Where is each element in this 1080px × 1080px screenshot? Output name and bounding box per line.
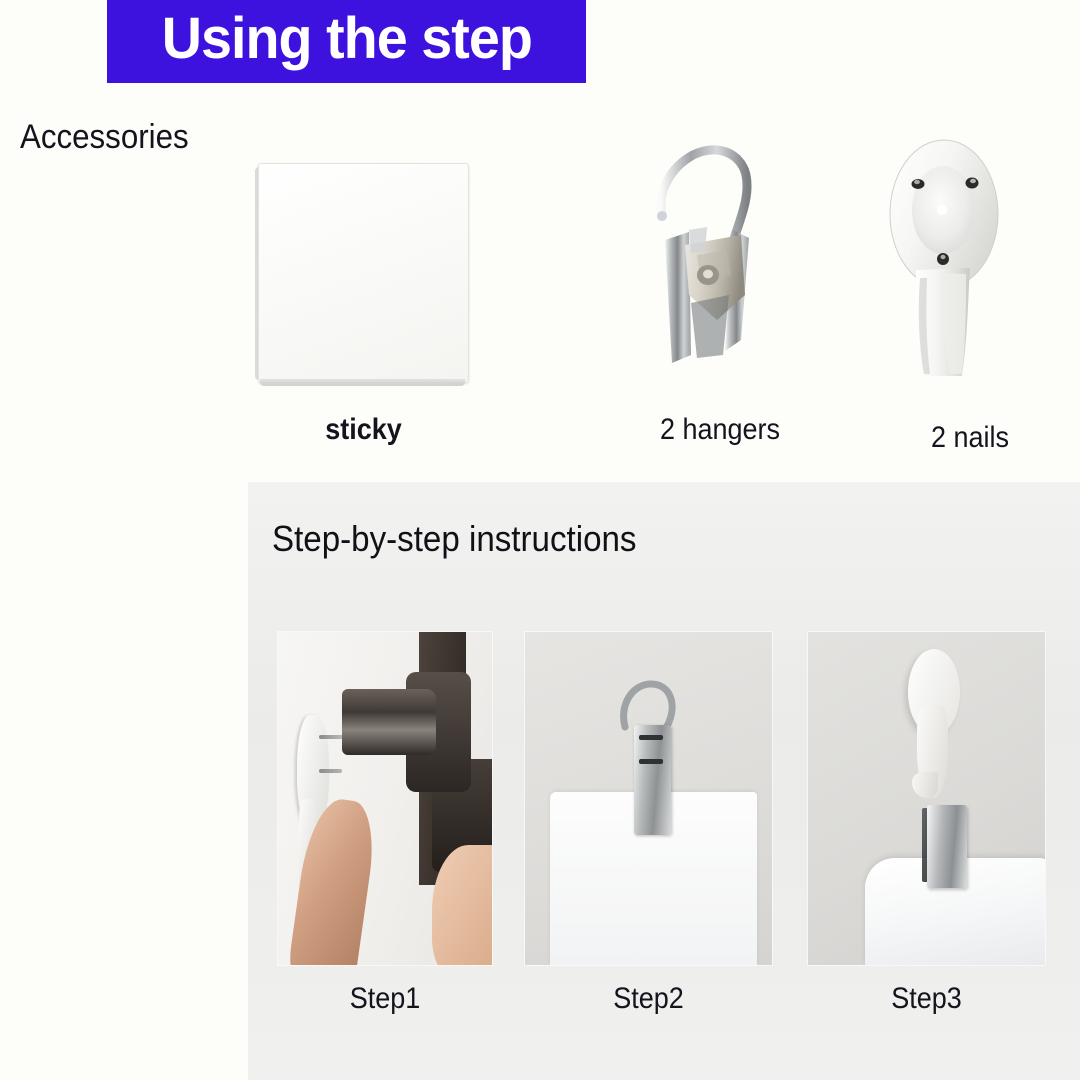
step-by-step-panel: Step-by-step instructions xyxy=(248,482,1080,1080)
adhesive-pad-icon xyxy=(258,163,469,383)
step1-hammer-head xyxy=(342,689,436,756)
steps-heading: Step-by-step instructions xyxy=(272,518,636,560)
wall-hook-svg xyxy=(880,138,1010,386)
step2-clip-slot-upper xyxy=(639,735,664,740)
accessory-caption-nails: 2 nails xyxy=(885,421,1056,455)
step1-caption: Step1 xyxy=(289,982,482,1016)
product-instruction-graphic: Using the step Accessories xyxy=(0,0,1080,1080)
pad-bottom-edge xyxy=(260,379,465,386)
clip-hanger-svg xyxy=(645,105,795,380)
accessory-caption-sticky: sticky xyxy=(269,413,459,447)
accessory-caption-hangers: 2 hangers xyxy=(630,413,810,447)
clip-hanger-icon xyxy=(645,105,795,380)
step2-clip-slot-lower xyxy=(639,759,664,764)
step2-photo xyxy=(525,632,772,965)
wall-hook-nail-icon xyxy=(880,138,1010,386)
step3-caption: Step3 xyxy=(820,982,1033,1016)
pad-face xyxy=(258,163,469,383)
step3-clip xyxy=(927,805,967,888)
step3-photo xyxy=(808,632,1045,965)
step1-nail-lower xyxy=(319,769,343,773)
step1-photo xyxy=(278,632,492,965)
step2-clip-body xyxy=(634,725,671,835)
step1-nail-upper xyxy=(319,735,345,739)
title-banner: Using the step xyxy=(107,0,586,83)
accessories-section-label: Accessories xyxy=(20,118,189,157)
page-title: Using the step xyxy=(161,10,531,74)
step2-caption: Step2 xyxy=(537,982,759,1016)
